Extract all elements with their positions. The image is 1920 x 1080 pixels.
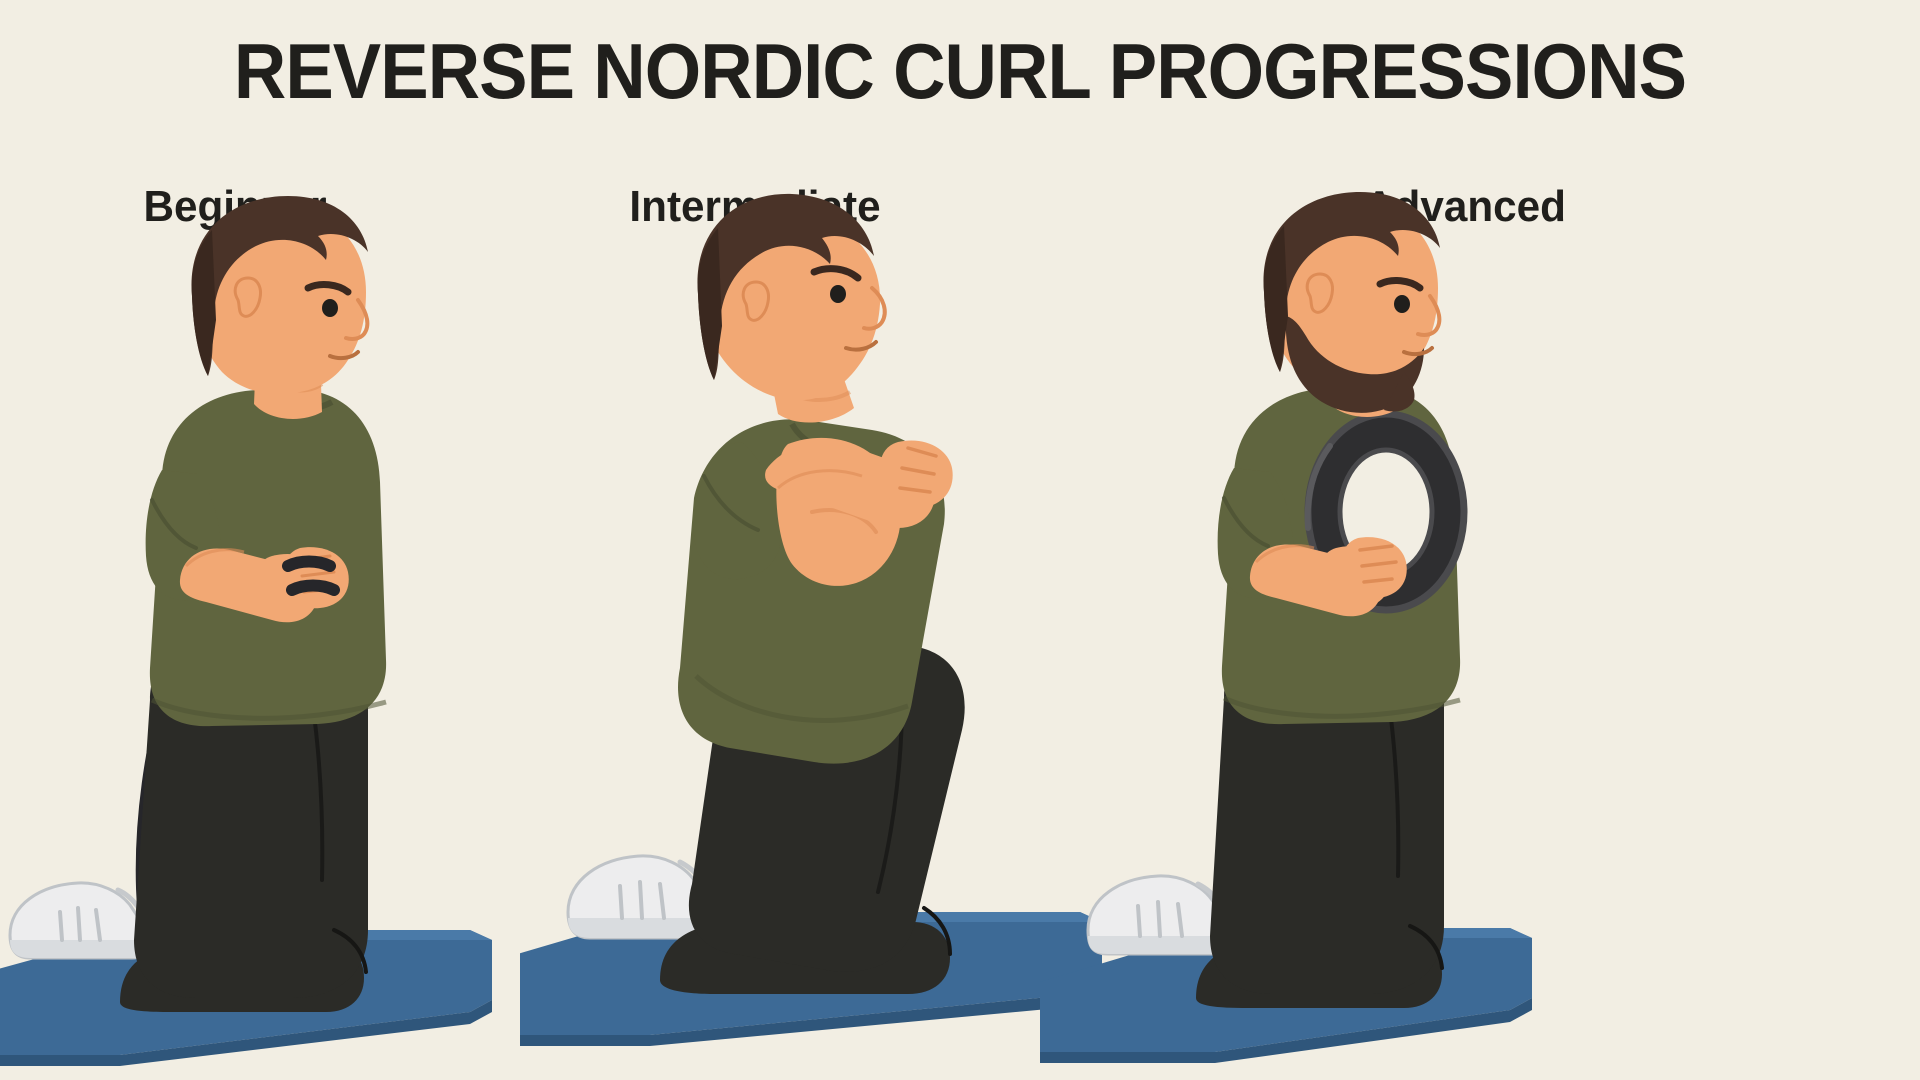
head-intermediate	[697, 194, 884, 423]
head-beginner	[191, 196, 368, 419]
torso-beginner	[146, 389, 386, 726]
illustration-advanced	[1000, 0, 1560, 1080]
infographic-canvas: REVERSE NORDIC CURL PROGRESSIONS Beginne…	[0, 0, 1920, 1080]
illustration-beginner	[0, 0, 520, 1080]
sneaker-beginner	[10, 883, 152, 958]
head-advanced	[1263, 192, 1440, 417]
